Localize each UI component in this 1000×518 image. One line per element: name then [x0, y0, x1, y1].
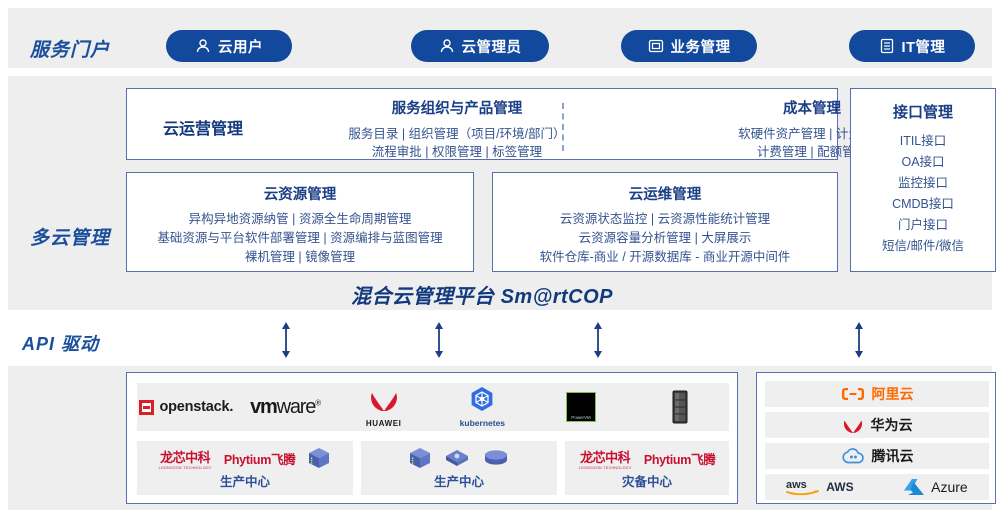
cloud-operations-title: 云运营管理 — [143, 115, 263, 139]
interface-item: OA接口 — [851, 152, 995, 173]
interface-item: 监控接口 — [851, 173, 995, 194]
kubernetes-label: kubernetes — [460, 418, 505, 428]
datacenter-card: 龙芯中科 LOONGSON TECHNOLOGYPhytium飞腾灾备中心 — [565, 441, 729, 495]
portal-pill-label: 业务管理 — [671, 36, 731, 57]
public-cloud-label: 华为云 — [871, 415, 913, 435]
datacenter-card: 龙芯中科 LOONGSON TECHNOLOGYPhytium飞腾 生产中心 — [137, 441, 353, 495]
interface-item: 短信/邮件/微信 — [851, 236, 995, 257]
vmware-logo[interactable]: vmware® — [236, 383, 335, 431]
public-cloud-panel: 阿里云 华为云 腾讯云 aws AWS Azure — [756, 372, 996, 504]
datacenter-name: 灾备中心 — [565, 471, 729, 490]
user-icon — [195, 38, 211, 54]
multicloud-resources-band: 多云资源 openstack.vmware® HUAWEI kubernetes… — [8, 366, 992, 510]
column-line: 服务目录 | 组织管理（项目/环境/部门） — [277, 125, 637, 143]
switch-icon — [444, 448, 470, 468]
aws-logo: aws — [786, 478, 820, 496]
loongson-label: 龙芯中科 — [159, 447, 212, 466]
datacenter-name: 生产中心 — [361, 471, 557, 490]
azure-logo — [903, 478, 925, 496]
loongson-logo: 龙芯中科 LOONGSON TECHNOLOGY — [159, 447, 212, 470]
service-product-management-column: 服务组织与产品管理 服务目录 | 组织管理（项目/环境/部门） 流程审批 | 权… — [277, 97, 637, 161]
cloud-resource-management-box: 云资源管理 异构异地资源纳管 | 资源全生命周期管理 基础资源与平台软件部署管理… — [126, 172, 474, 272]
huaweicloud-logo — [842, 416, 864, 434]
server-rack-icon[interactable] — [630, 383, 729, 431]
powervm-label: PowerVM — [571, 415, 591, 420]
public-cloud-row-aliyun[interactable]: 阿里云 — [765, 381, 989, 407]
window-icon — [648, 38, 664, 54]
public-cloud-row-aws-azure[interactable]: aws AWS Azure — [765, 474, 989, 500]
portal-pill-4[interactable]: IT管理 — [849, 30, 975, 62]
interface-item: ITIL接口 — [851, 131, 995, 152]
cloud-operation-maintenance-box: 云运维管理 云资源状态监控 | 云资源性能统计管理 云资源容量分析管理 | 大屏… — [492, 172, 838, 272]
storage-icon — [482, 449, 510, 467]
aws-cell[interactable]: aws AWS — [786, 478, 853, 496]
huawei-label: HUAWEI — [366, 419, 402, 428]
vmware-label: vmware® — [250, 396, 320, 419]
loongson-logo: 龙芯中科 LOONGSON TECHNOLOGY — [579, 447, 632, 470]
datacenter-name: 生产中心 — [137, 471, 353, 490]
public-cloud-row-huaweicloud[interactable]: 华为云 — [765, 412, 989, 438]
api-arrow-3 — [591, 322, 605, 358]
private-resources-panel: openstack.vmware® HUAWEI kubernetesPower… — [126, 372, 738, 504]
datacenter-card: 生产中心 — [361, 441, 557, 495]
aliyun-logo — [841, 386, 865, 402]
loongson-subtitle: LOONGSON TECHNOLOGY — [579, 466, 632, 470]
box-line: 云资源容量分析管理 | 大屏展示 — [493, 229, 837, 248]
interface-item: 门户接口 — [851, 215, 995, 236]
phytium-logo: Phytium飞腾 — [644, 449, 716, 468]
api-arrow-4 — [852, 322, 866, 358]
public-cloud-label: 阿里云 — [872, 384, 914, 404]
public-cloud-row-tencentcloud[interactable]: 腾讯云 — [765, 443, 989, 469]
kubernetes-logo[interactable]: kubernetes — [433, 383, 532, 431]
list-icon — [879, 38, 895, 54]
virtualization-platform-strip: openstack.vmware® HUAWEI kubernetesPower… — [137, 383, 729, 431]
cloud-operations-box: 云运营管理 服务组织与产品管理 服务目录 | 组织管理（项目/环境/部门） 流程… — [126, 88, 838, 160]
azure-cell[interactable]: Azure — [903, 478, 968, 496]
multicloud-management-label: 多云管理 — [30, 223, 110, 250]
user-icon — [439, 38, 455, 54]
datacenter-icons: 龙芯中科 LOONGSON TECHNOLOGYPhytium飞腾 — [137, 445, 353, 471]
service-portal-band: 服务门户 云用户 云管理员 业务管理 IT管理 — [8, 8, 992, 68]
server-icon — [307, 446, 331, 470]
openstack-logo[interactable]: openstack. — [137, 383, 236, 431]
api-arrow-1 — [279, 322, 293, 358]
portal-pill-3[interactable]: 业务管理 — [621, 30, 757, 62]
box-line: 异构异地资源纳管 | 资源全生命周期管理 — [127, 210, 473, 229]
column-line: 流程审批 | 权限管理 | 标签管理 — [277, 143, 637, 161]
public-cloud-label: 腾讯云 — [872, 446, 914, 466]
portal-pill-label: IT管理 — [902, 36, 946, 57]
datacenter-icons — [361, 445, 557, 471]
openstack-label: openstack. — [159, 399, 233, 415]
loongson-label: 龙芯中科 — [579, 447, 632, 466]
diagram-root: 服务门户 云用户 云管理员 业务管理 IT管理 多云管理 云运营管理 服务组织与… — [0, 0, 1000, 518]
interface-management-box: 接口管理 ITIL接口 OA接口 监控接口 CMDB接口 门户接口 短信/邮件/… — [850, 88, 996, 272]
box-title: 接口管理 — [851, 101, 995, 122]
multicloud-management-band: 多云管理 云运营管理 服务组织与产品管理 服务目录 | 组织管理（项目/环境/部… — [8, 76, 992, 310]
loongson-subtitle: LOONGSON TECHNOLOGY — [159, 466, 212, 470]
svg-text:aws: aws — [786, 479, 807, 491]
box-line: 云资源状态监控 | 云资源性能统计管理 — [493, 210, 837, 229]
openstack-mark — [139, 400, 154, 415]
box-line: 裸机管理 | 镜像管理 — [127, 248, 473, 267]
phytium-logo: Phytium飞腾 — [224, 449, 296, 468]
service-portal-label: 服务门户 — [30, 35, 110, 62]
api-arrow-2 — [432, 322, 446, 358]
huawei-logo[interactable]: HUAWEI — [334, 383, 433, 431]
server-icon — [408, 446, 432, 470]
platform-title: 混合云管理平台 Sm@rtCOP — [126, 280, 838, 309]
portal-pill-label: 云管理员 — [462, 36, 522, 57]
tencentcloud-logo — [841, 447, 865, 465]
api-driven-label: API 驱动 — [22, 330, 99, 356]
column-title: 服务组织与产品管理 — [277, 97, 637, 118]
powervm-logo[interactable]: PowerVM — [532, 383, 631, 431]
portal-pill-2[interactable]: 云管理员 — [411, 30, 549, 62]
box-title: 云运维管理 — [493, 183, 837, 204]
box-line: 基础资源与平台软件部署管理 | 资源编排与蓝图管理 — [127, 229, 473, 248]
portal-pill-1[interactable]: 云用户 — [166, 30, 292, 62]
api-driven-band — [8, 318, 992, 362]
box-title: 云资源管理 — [127, 183, 473, 204]
datacenter-icons: 龙芯中科 LOONGSON TECHNOLOGYPhytium飞腾 — [565, 445, 729, 471]
public-cloud-label: AWS — [826, 480, 853, 494]
portal-pill-label: 云用户 — [218, 36, 263, 57]
box-line: 软件仓库-商业 / 开源数据库 - 商业开源中间件 — [493, 248, 837, 267]
interface-item: CMDB接口 — [851, 194, 995, 215]
public-cloud-label: Azure — [931, 479, 968, 495]
